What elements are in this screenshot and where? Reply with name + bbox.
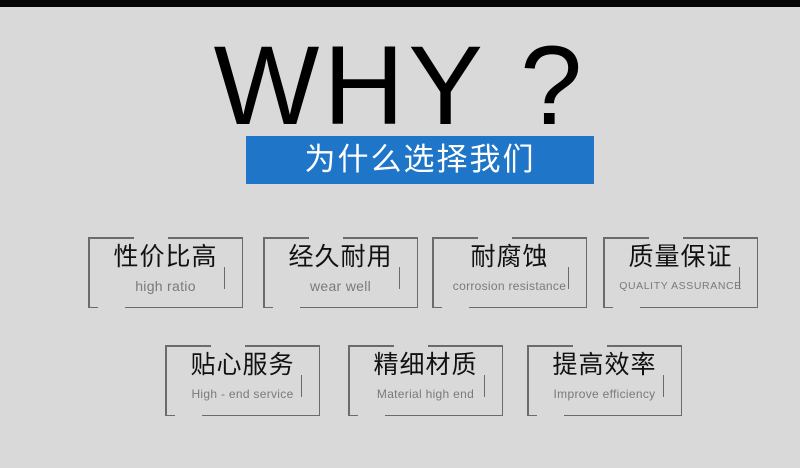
- feature-subtitle-en: QUALITY ASSURANCE: [603, 277, 758, 295]
- page-title: WHY ?: [0, 26, 800, 146]
- poster-canvas: WHY ? 为什么选择我们 性价比高 high ratio 经久耐用 wear …: [0, 0, 800, 468]
- feature-title-cn: 性价比高: [88, 242, 243, 272]
- feature-subtitle-en: high ratio: [88, 277, 243, 295]
- feature-card-1: 性价比高 high ratio: [88, 237, 243, 308]
- subtitle-banner: 为什么选择我们: [246, 136, 594, 184]
- feature-title-cn: 经久耐用: [263, 242, 418, 272]
- feature-subtitle-en: wear well: [263, 277, 418, 295]
- feature-title-cn: 精细材质: [348, 350, 503, 380]
- feature-card-7: 提高效率 Improve efficiency: [527, 345, 682, 416]
- subtitle-banner-label: 为什么选择我们: [305, 143, 536, 177]
- feature-card-4: 质量保证 QUALITY ASSURANCE: [603, 237, 758, 308]
- feature-card-3: 耐腐蚀 corrosion resistance: [432, 237, 587, 308]
- feature-card-6: 精细材质 Material high end: [348, 345, 503, 416]
- feature-card-5: 贴心服务 High - end service: [165, 345, 320, 416]
- feature-title-cn: 贴心服务: [165, 350, 320, 380]
- feature-subtitle-en: Material high end: [348, 385, 503, 403]
- feature-card-2: 经久耐用 wear well: [263, 237, 418, 308]
- feature-title-cn: 质量保证: [603, 242, 758, 272]
- feature-subtitle-en: Improve efficiency: [527, 385, 682, 403]
- feature-subtitle-en: High - end service: [165, 385, 320, 403]
- top-black-bar: [0, 0, 800, 7]
- feature-subtitle-en: corrosion resistance: [432, 277, 587, 295]
- feature-title-cn: 提高效率: [527, 350, 682, 380]
- feature-title-cn: 耐腐蚀: [432, 242, 587, 272]
